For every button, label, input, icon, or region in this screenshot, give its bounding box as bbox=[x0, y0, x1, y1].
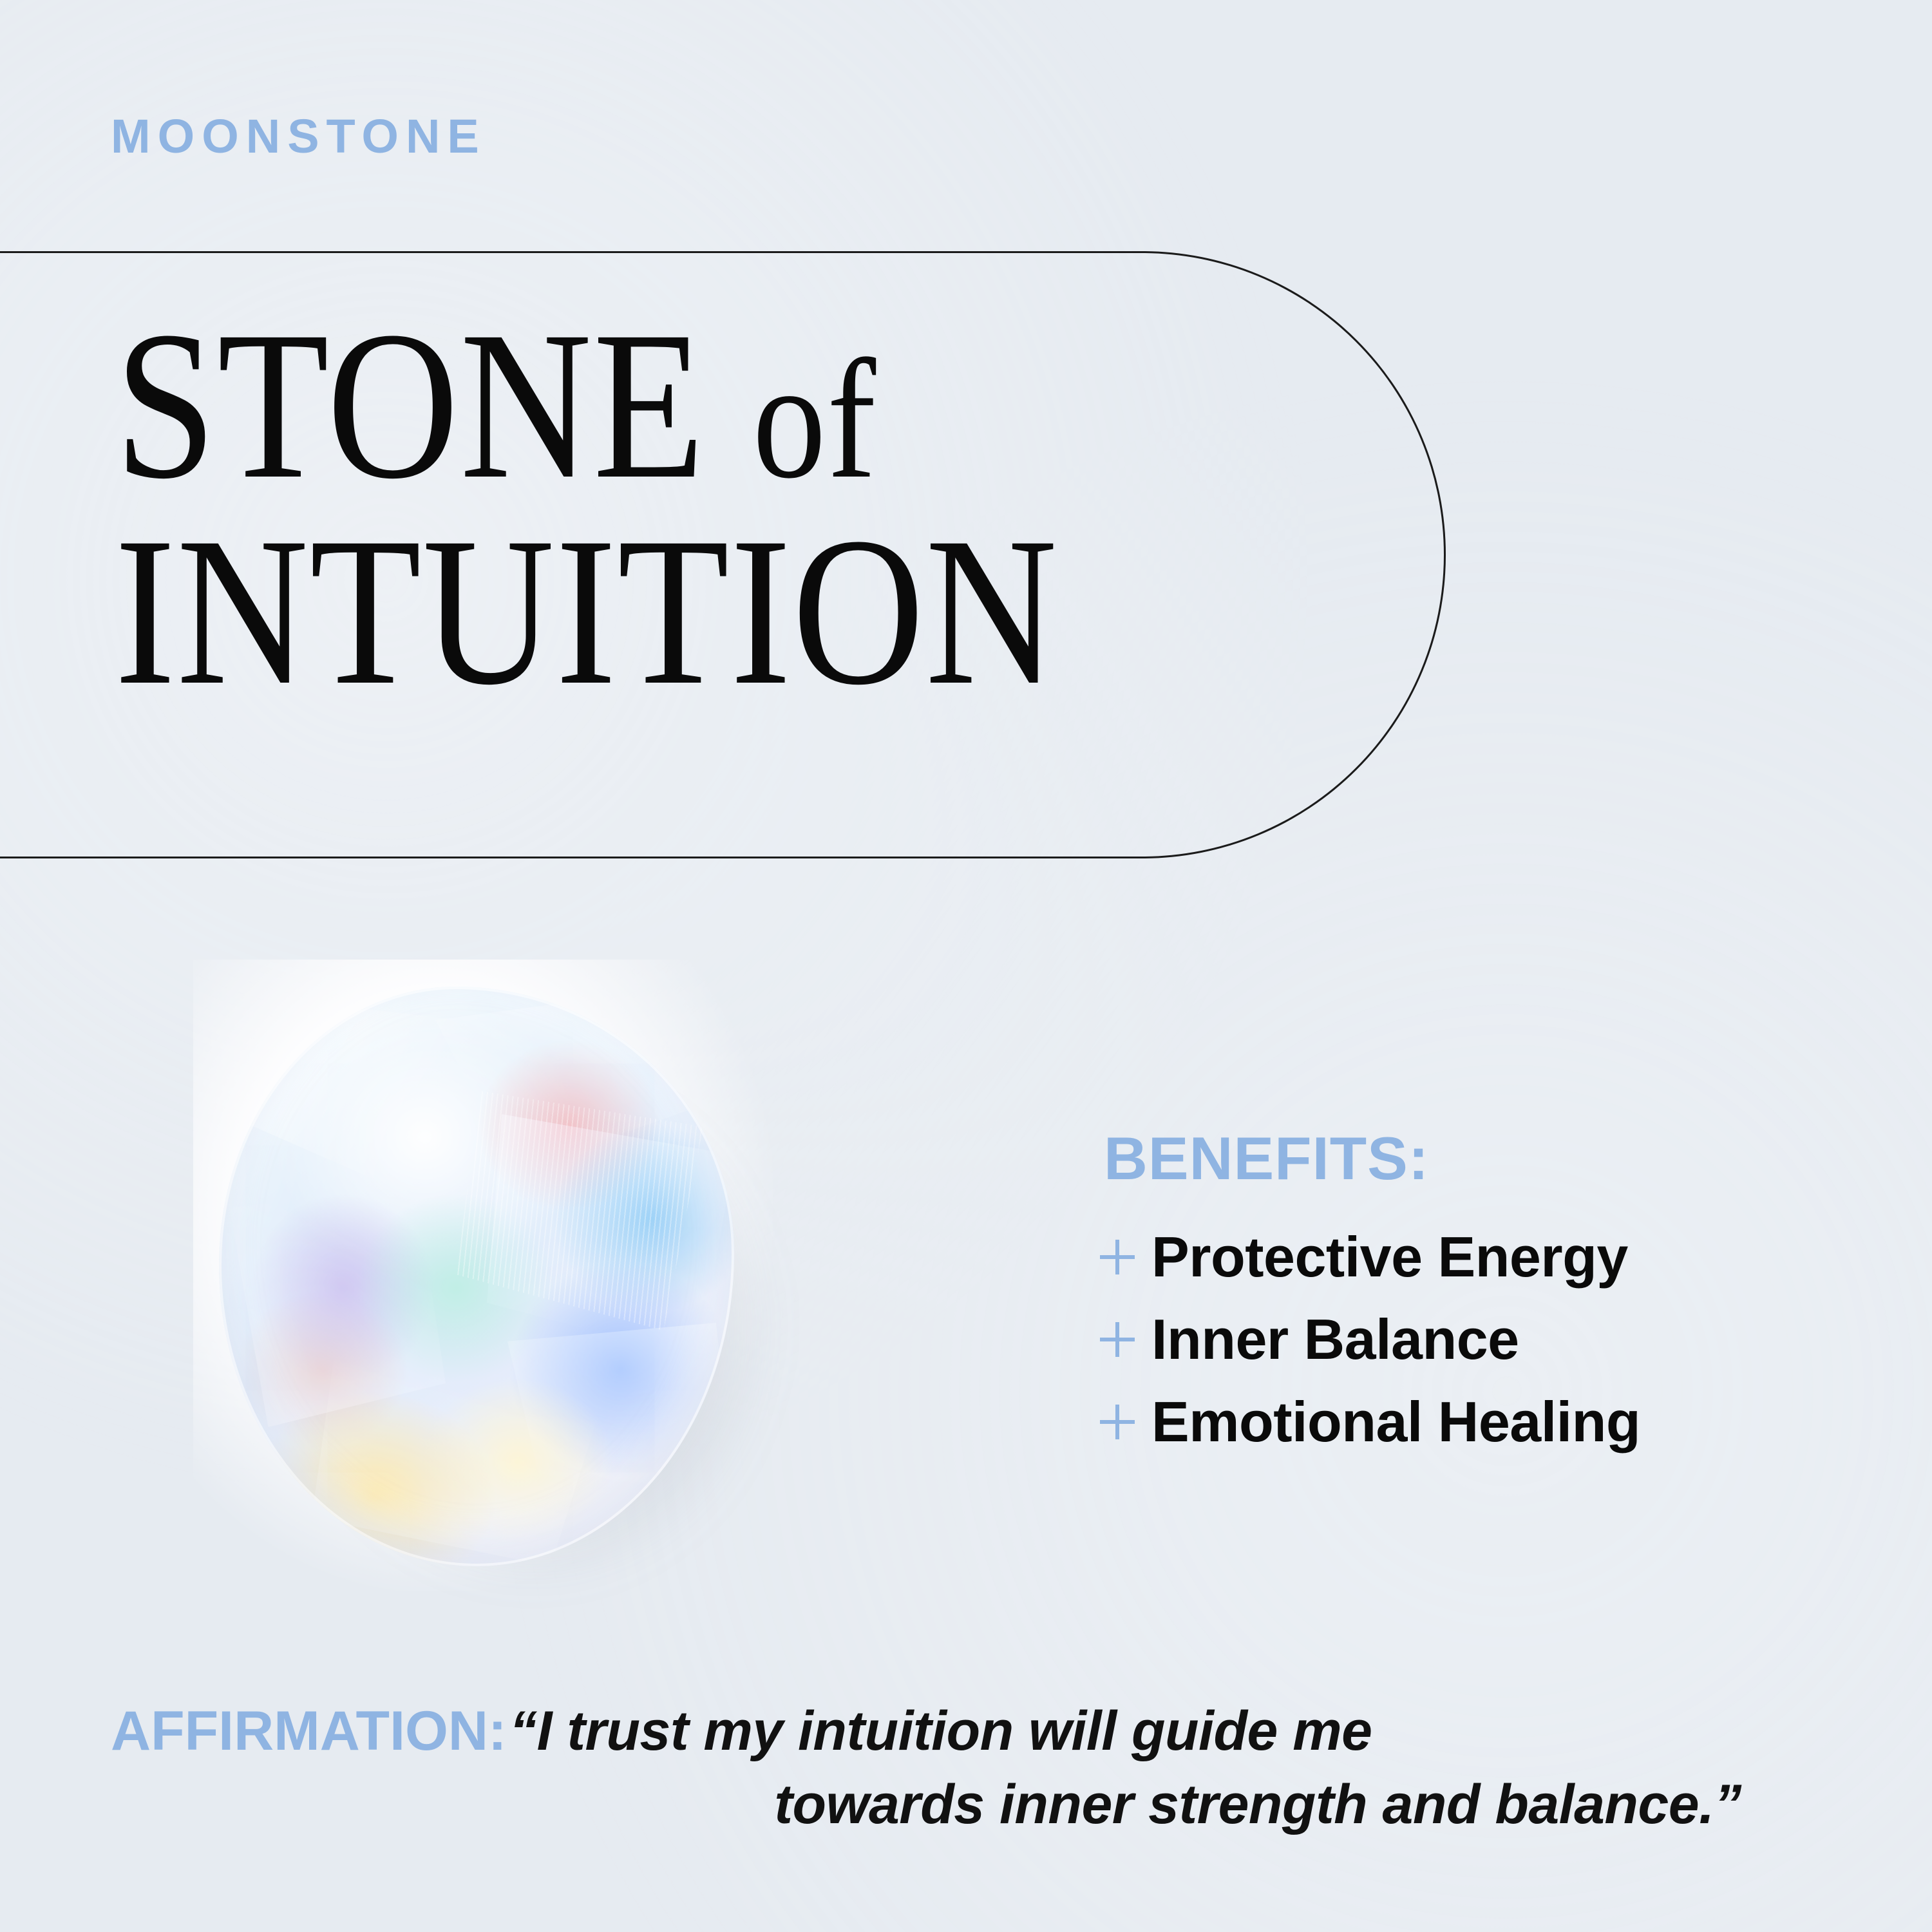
title-word-stone: STONE bbox=[115, 288, 706, 523]
crystal-body bbox=[219, 987, 734, 1566]
plus-icon bbox=[1100, 1405, 1135, 1439]
benefit-item-0: Protective Energy bbox=[1100, 1216, 1877, 1298]
benefits-section: BENEFITS: Protective Energy Inner Balanc… bbox=[1104, 1128, 1877, 1463]
affirmation-line-2: towards inner strength and balance.” bbox=[111, 1768, 1837, 1842]
title-line-2: INTUITION bbox=[115, 509, 1222, 715]
poster-canvas: MOONSTONE STONE of INTUITION BENEFITS: P… bbox=[0, 0, 1932, 1932]
title-word-of: of bbox=[753, 325, 877, 514]
benefits-heading: BENEFITS: bbox=[1104, 1128, 1877, 1189]
benefit-label: Protective Energy bbox=[1151, 1229, 1628, 1285]
page-title: STONE of INTUITION bbox=[115, 303, 1403, 715]
benefit-label: Emotional Healing bbox=[1151, 1394, 1640, 1450]
title-line-1: STONE of bbox=[115, 303, 1222, 509]
affirmation-line-1: “I trust my intuition will guide me bbox=[509, 1700, 1372, 1762]
plus-icon bbox=[1100, 1240, 1135, 1274]
benefit-item-2: Emotional Healing bbox=[1100, 1381, 1877, 1463]
plus-icon bbox=[1100, 1322, 1135, 1357]
benefit-label: Inner Balance bbox=[1151, 1311, 1519, 1368]
moonstone-crystal bbox=[193, 960, 773, 1591]
stone-name-eyebrow: MOONSTONE bbox=[111, 113, 486, 160]
benefit-item-1: Inner Balance bbox=[1100, 1298, 1877, 1381]
affirmation-section: AFFIRMATION: “I trust my intuition will … bbox=[111, 1695, 1837, 1841]
affirmation-label: AFFIRMATION: bbox=[111, 1700, 507, 1762]
affirmation-text-block: AFFIRMATION: “I trust my intuition will … bbox=[111, 1695, 1837, 1841]
